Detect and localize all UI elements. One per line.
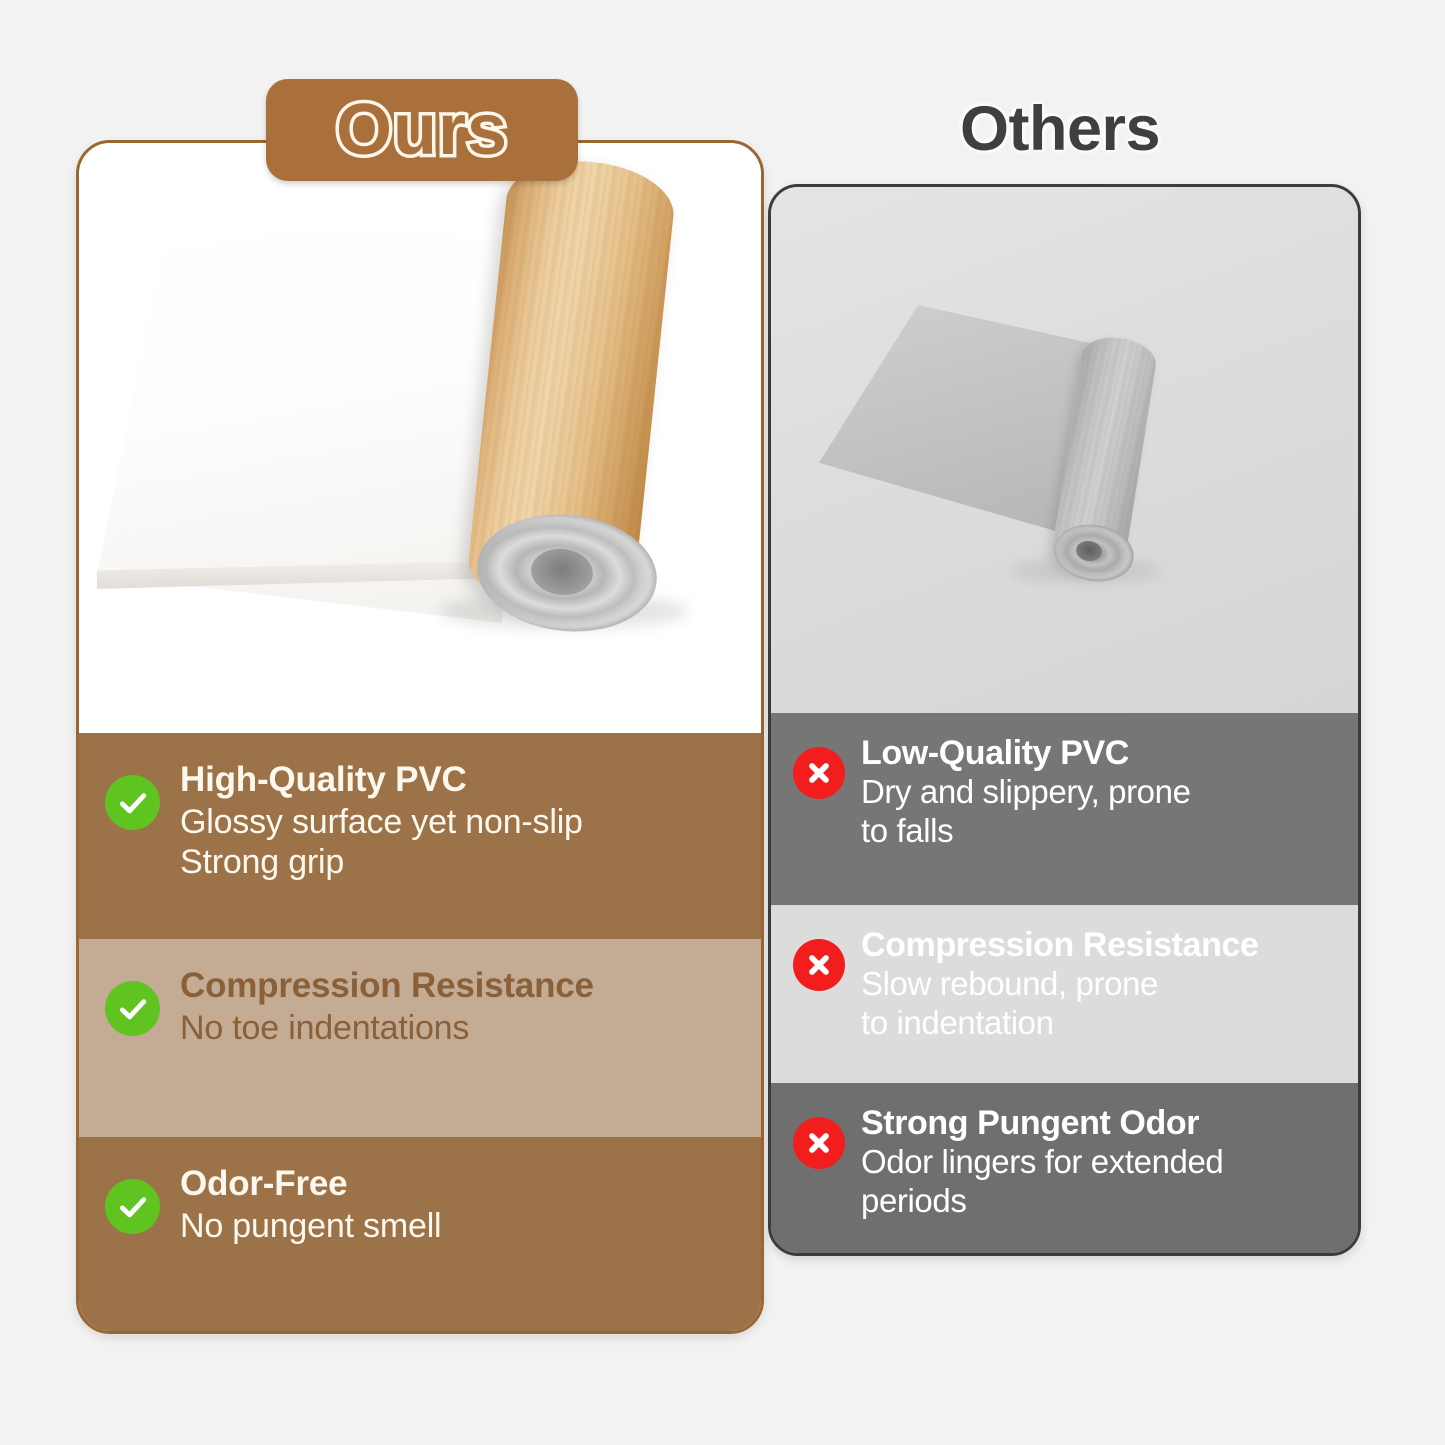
ours-feature-row-1: High-Quality PVC Glossy surface yet non-…: [79, 733, 761, 939]
ours-header-label: Ours: [336, 94, 508, 166]
check-circle-icon: [105, 775, 160, 830]
others-feature-desc-2: Slow rebound, prone to indentation: [861, 965, 1258, 1043]
ours-feature-text-2: Compression Resistance No toe indentatio…: [180, 967, 594, 1048]
others-feature-row-2: Compression Resistance Slow rebound, pro…: [771, 905, 1358, 1083]
ours-card: High-Quality PVC Glossy surface yet non-…: [76, 140, 764, 1334]
others-feature-title-3: Strong Pungent Odor: [861, 1105, 1223, 1142]
others-feature-desc-1: Dry and slippery, prone to falls: [861, 773, 1191, 851]
others-feature-row-1: Low-Quality PVC Dry and slippery, prone …: [771, 713, 1358, 905]
check-circle-icon: [105, 1179, 160, 1234]
others-feature-title-2: Compression Resistance: [861, 927, 1258, 964]
ours-feature-row-3: Odor-Free No pungent smell: [79, 1137, 761, 1334]
ours-feature-desc-2: No toe indentations: [180, 1008, 594, 1048]
others-feature-desc-3: Odor lingers for extended periods: [861, 1143, 1223, 1221]
check-circle-icon: [105, 981, 160, 1036]
ours-feature-list: High-Quality PVC Glossy surface yet non-…: [79, 733, 761, 1334]
others-feature-text-2: Compression Resistance Slow rebound, pro…: [861, 927, 1258, 1043]
x-circle-icon: [793, 1117, 845, 1169]
ours-feature-title-3: Odor-Free: [180, 1165, 441, 1203]
others-feature-text-3: Strong Pungent Odor Odor lingers for ext…: [861, 1105, 1223, 1221]
x-circle-icon: [793, 747, 845, 799]
ours-feature-desc-1: Glossy surface yet non-slip Strong grip: [180, 802, 583, 882]
ours-feature-title-1: High-Quality PVC: [180, 761, 583, 799]
x-circle-icon: [793, 939, 845, 991]
ours-product-photo: [79, 143, 761, 733]
others-feature-list: Low-Quality PVC Dry and slippery, prone …: [771, 713, 1358, 1256]
others-product-photo: [771, 187, 1358, 713]
ours-feature-title-2: Compression Resistance: [180, 967, 594, 1005]
others-card: Low-Quality PVC Dry and slippery, prone …: [768, 184, 1361, 1256]
ours-feature-text-1: High-Quality PVC Glossy surface yet non-…: [180, 761, 583, 882]
others-feature-text-1: Low-Quality PVC Dry and slippery, prone …: [861, 735, 1191, 851]
others-feature-row-3: Strong Pungent Odor Odor lingers for ext…: [771, 1083, 1358, 1256]
ours-header-badge: Ours: [266, 79, 578, 181]
ours-feature-row-2: Compression Resistance No toe indentatio…: [79, 939, 761, 1137]
ours-feature-text-3: Odor-Free No pungent smell: [180, 1165, 441, 1246]
ours-feature-desc-3: No pungent smell: [180, 1206, 441, 1246]
others-header-label: Others: [960, 98, 1160, 161]
comparison-infographic: High-Quality PVC Glossy surface yet non-…: [0, 0, 1445, 1445]
others-feature-title-1: Low-Quality PVC: [861, 735, 1191, 772]
